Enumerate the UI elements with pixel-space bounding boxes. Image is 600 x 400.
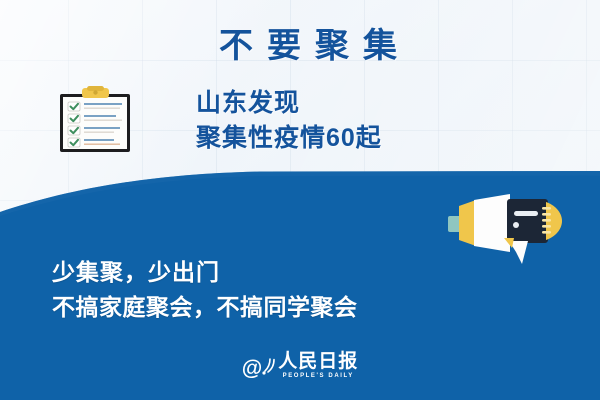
peoples-daily-logo: @ 人民日报 PEOPLE'S DAILY xyxy=(0,352,600,379)
subheadline-line-1: 山东发现 xyxy=(196,86,382,121)
subheadline: 山东发现 聚集性疫情60起 xyxy=(196,86,382,155)
slogan-text: 少集聚，少出门 不搞家庭聚会，不搞同学聚会 xyxy=(52,255,358,325)
slogan-line-2: 不搞家庭聚会，不搞同学聚会 xyxy=(52,290,358,325)
clipboard-checklist-icon xyxy=(56,86,134,154)
slogan-line-1: 少集聚，少出门 xyxy=(52,255,358,290)
at-symbol-icon: @ xyxy=(242,358,261,379)
poster-canvas: 不要聚集 xyxy=(0,0,600,400)
subheadline-line-2: 聚集性疫情60起 xyxy=(196,121,382,156)
megaphone-icon xyxy=(446,186,562,264)
signal-wave-icon xyxy=(262,357,276,375)
logo-english-name: PEOPLE'S DAILY xyxy=(283,373,354,379)
page-title: 不要聚集 xyxy=(150,28,480,65)
logo-chinese-name: 人民日报 xyxy=(278,352,358,371)
logo-text-block: 人民日报 PEOPLE'S DAILY xyxy=(278,352,358,379)
